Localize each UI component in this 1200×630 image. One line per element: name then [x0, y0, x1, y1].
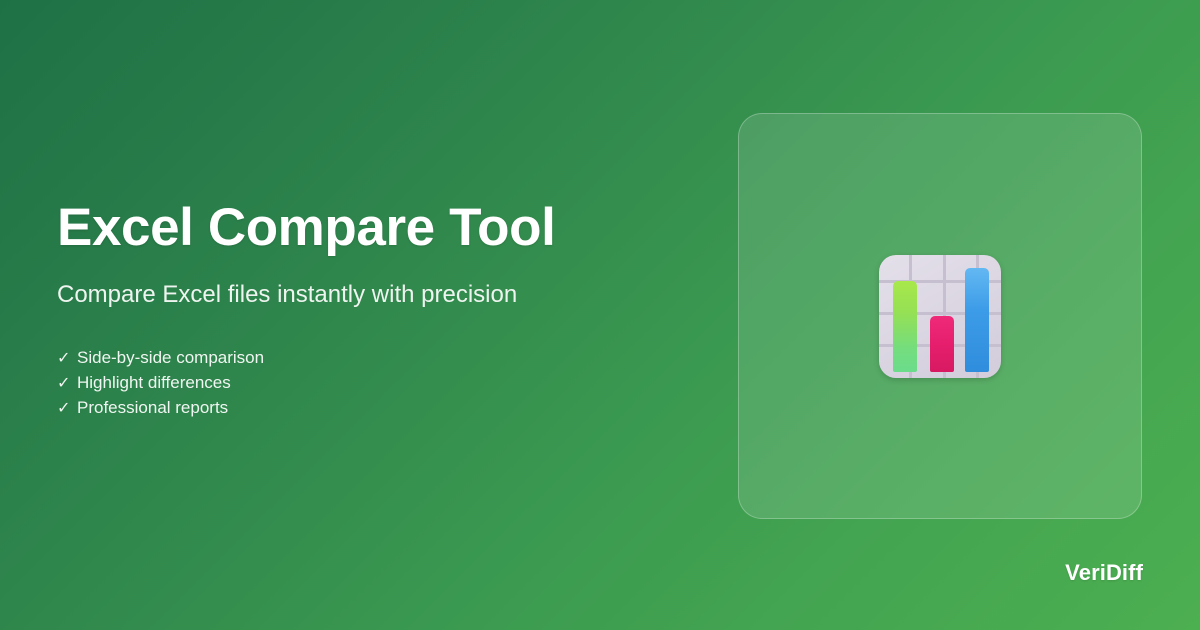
- pink-bar: [930, 316, 954, 372]
- green-bar: [893, 281, 917, 372]
- feature-list: ✓ Side-by-side comparison ✓ Highlight di…: [57, 346, 697, 421]
- list-item: ✓ Professional reports: [57, 396, 697, 421]
- blue-bar: [965, 268, 989, 372]
- check-icon: ✓: [57, 372, 73, 396]
- check-icon: ✓: [57, 347, 73, 371]
- list-item: ✓ Side-by-side comparison: [57, 346, 697, 371]
- hero-text-block: Excel Compare Tool Compare Excel files i…: [57, 200, 697, 421]
- check-icon: ✓: [57, 397, 73, 421]
- list-item: ✓ Highlight differences: [57, 371, 697, 396]
- feature-label: Side-by-side comparison: [77, 346, 264, 370]
- bar-chart-emoji-icon: [879, 255, 1001, 378]
- feature-label: Professional reports: [77, 396, 228, 420]
- page-title: Excel Compare Tool: [57, 200, 697, 256]
- feature-label: Highlight differences: [77, 371, 231, 395]
- brand-logo: VeriDiff: [1065, 560, 1143, 586]
- visual-card: [738, 113, 1142, 519]
- page-subtitle: Compare Excel files instantly with preci…: [57, 280, 697, 310]
- promo-banner: Excel Compare Tool Compare Excel files i…: [0, 0, 1200, 630]
